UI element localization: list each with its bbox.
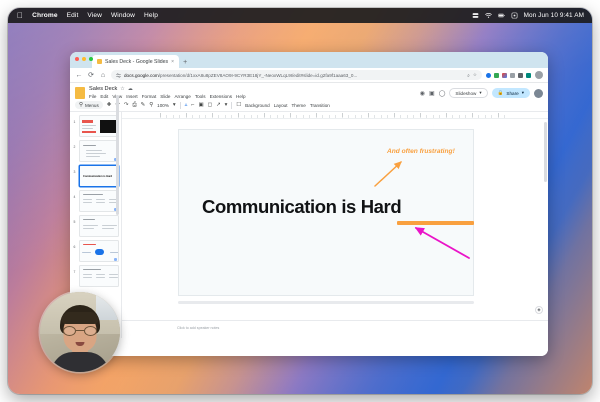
slides-logo-icon xyxy=(75,87,85,99)
presenter-glasses xyxy=(63,326,97,336)
slide-number: 1 xyxy=(72,115,77,124)
slide-thumbnail-3[interactable]: Communication is Hard xyxy=(79,165,119,187)
menubar-item-chrome[interactable]: Chrome xyxy=(32,12,58,19)
menubar-item-help[interactable]: Help xyxy=(144,12,158,19)
filmstrip-item[interactable]: 5 xyxy=(72,215,119,237)
glasses-bridge xyxy=(76,330,84,331)
new-tab-button[interactable]: + xyxy=(183,59,187,66)
window-traffic-lights[interactable] xyxy=(75,57,93,61)
browser-tab-sales-deck[interactable]: Sales Deck - Google Slides × xyxy=(92,55,179,68)
macos-menubar[interactable]:  Chrome Edit View Window Help xyxy=(8,8,592,23)
toolbar-divider xyxy=(180,102,181,109)
extension-dark-icon[interactable] xyxy=(518,73,523,78)
minimize-window-button[interactable] xyxy=(82,57,86,61)
textbox-icon[interactable]: ⌐ xyxy=(191,102,194,108)
document-title[interactable]: Sales Deck xyxy=(89,86,117,92)
back-button[interactable]: ← xyxy=(75,72,83,79)
url-path: /presentation/d/1xxA8u8pZEV8AO9I-9CYR3E1… xyxy=(159,73,358,78)
slides-toolbar[interactable]: ⚲ Menus ✚ ↶ ↷ ⎙ ✎ ⚲ 100% ▾ ▵ ⌐ ▣ ◻ ↗ ▾ ☐ xyxy=(70,99,548,112)
zoom-icon[interactable]: ⚲ xyxy=(149,102,153,108)
menu-extensions[interactable]: Extensions xyxy=(210,94,232,99)
shape-icon[interactable]: ◻ xyxy=(208,102,212,108)
slide-thumbnail-2[interactable] xyxy=(79,140,119,162)
speaker-notes-placeholder[interactable]: Click to add speaker notes xyxy=(177,326,219,330)
presenter-fringe xyxy=(62,312,99,324)
filmstrip-item[interactable]: 7 xyxy=(72,265,119,287)
theme-button[interactable]: Theme xyxy=(292,103,306,108)
background-button[interactable]: Background xyxy=(245,103,270,108)
slideshow-button[interactable]: Slideshow ▾ xyxy=(449,88,487,98)
paint-format-icon[interactable]: ✎ xyxy=(141,102,146,108)
transition-button[interactable]: Transition xyxy=(310,103,330,108)
tab-title: Sales Deck - Google Slides xyxy=(105,59,168,65)
chevron-down-icon[interactable]: ▾ xyxy=(479,90,481,96)
control-center-icon[interactable] xyxy=(472,12,479,19)
wifi-icon[interactable] xyxy=(485,12,492,19)
slides-body: 1 2 xyxy=(70,112,548,338)
menubar-item-edit[interactable]: Edit xyxy=(67,12,79,19)
menu-help[interactable]: Help xyxy=(236,94,245,99)
canvas-horizontal-scrollbar[interactable] xyxy=(178,301,474,304)
glasses-right-lens xyxy=(84,326,97,336)
star-icon[interactable]: ☆ xyxy=(120,86,124,92)
chevron-down-icon[interactable]: ▾ xyxy=(225,102,228,108)
menubar-clock[interactable]: Mon Jun 10 9:41 AM xyxy=(524,12,584,19)
menubar-item-view[interactable]: View xyxy=(87,12,102,19)
bookmark-star-icon[interactable]: ☆ xyxy=(473,72,477,78)
close-window-button[interactable] xyxy=(75,57,79,61)
home-button[interactable]: ⌂ xyxy=(99,72,107,79)
omnibox-row[interactable]: ← ⟳ ⌂ docs.google.com/presentation/d/1xx… xyxy=(70,68,548,83)
account-avatar[interactable] xyxy=(534,89,543,98)
slide-thumbnail-5[interactable] xyxy=(79,215,119,237)
menu-insert[interactable]: Insert xyxy=(126,94,138,99)
orange-arrow xyxy=(375,162,401,186)
filmstrip-item[interactable]: 1 xyxy=(72,115,119,137)
siri-icon[interactable] xyxy=(511,12,518,19)
menu-edit[interactable]: Edit xyxy=(100,94,108,99)
extension-blue-icon[interactable] xyxy=(486,73,491,78)
move-icon[interactable]: ✚ xyxy=(107,102,112,108)
toolbar-divider xyxy=(231,102,232,109)
slide-number: 2 xyxy=(72,140,77,149)
presenter-camera-bubble[interactable] xyxy=(40,292,120,372)
desktop:  Chrome Edit View Window Help xyxy=(8,8,592,394)
url-domain: docs.google.com xyxy=(124,73,159,78)
chevron-down-icon[interactable]: ▾ xyxy=(522,90,524,96)
slide-number: 3 xyxy=(72,165,77,174)
print-icon[interactable]: ⎙ xyxy=(132,102,136,109)
zoom-icon[interactable]: ⌕ xyxy=(467,73,470,78)
slide-thumbnail-6[interactable] xyxy=(79,240,119,262)
menu-file[interactable]: File xyxy=(89,94,96,99)
thumbnail-title: Communication is Hard xyxy=(83,175,112,178)
menubar-item-window[interactable]: Window xyxy=(111,12,135,19)
menu-slide[interactable]: Slide xyxy=(160,94,170,99)
line-icon[interactable]: ↗ xyxy=(216,102,221,108)
canvas-vertical-scrollbar[interactable] xyxy=(544,122,547,182)
meet-icon[interactable]: ◉ xyxy=(420,90,425,97)
search-icon: ⚲ xyxy=(79,102,83,108)
comment-icon[interactable]: ☐ xyxy=(236,102,241,108)
close-icon[interactable]: × xyxy=(171,59,174,65)
camera-background-screen xyxy=(96,294,118,320)
extension-teal-icon[interactable] xyxy=(526,73,531,78)
zoom-value[interactable]: 100% xyxy=(157,103,169,108)
slide-number: 7 xyxy=(72,265,77,274)
slide-number: 5 xyxy=(72,215,77,224)
reload-button[interactable]: ⟳ xyxy=(87,71,95,79)
menu-tools[interactable]: Tools xyxy=(195,94,206,99)
menus-search-chip[interactable]: ⚲ Menus xyxy=(75,101,103,109)
extensions-tray[interactable] xyxy=(486,73,531,78)
slide-thumbnail-1[interactable] xyxy=(79,115,119,137)
slide-thumbnail-7[interactable] xyxy=(79,265,119,287)
slide-canvas-area[interactable]: Communication is Hard And often frustrat… xyxy=(122,112,548,338)
layout-button[interactable]: Layout xyxy=(274,103,288,108)
address-bar-url: docs.google.com/presentation/d/1xxA8u8pZ… xyxy=(124,73,464,78)
chrome-window[interactable]: Sales Deck - Google Slides × + ← ⟳ ⌂ doc… xyxy=(70,52,548,356)
tune-icon[interactable] xyxy=(116,73,121,78)
select-icon[interactable]: ▵ xyxy=(185,102,188,108)
annotation-arrows xyxy=(179,130,475,297)
share-button[interactable]: 🔒 Share ▾ xyxy=(492,88,530,98)
apple-menu-icon[interactable]:  xyxy=(17,12,23,20)
present-icon[interactable]: ▣ xyxy=(429,90,435,97)
extension-green-icon[interactable] xyxy=(494,73,499,78)
address-bar[interactable]: docs.google.com/presentation/d/1xxA8u8pZ… xyxy=(111,70,482,80)
profile-avatar[interactable] xyxy=(535,71,543,79)
extension-multicolor-icon[interactable] xyxy=(502,73,507,78)
maximize-window-button[interactable] xyxy=(89,57,93,61)
slide-number: 4 xyxy=(72,190,77,199)
filmstrip-item-selected[interactable]: 3 Communication is Hard xyxy=(72,165,119,187)
slide-editing-surface[interactable]: Communication is Hard And often frustrat… xyxy=(178,129,474,296)
lock-icon: 🔒 xyxy=(498,90,504,96)
tab-strip[interactable]: Sales Deck - Google Slides × + xyxy=(70,52,548,68)
slides-favicon xyxy=(97,59,102,64)
chevron-down-icon[interactable]: ▾ xyxy=(173,102,176,108)
extension-gray-icon[interactable] xyxy=(510,73,515,78)
comment-history-icon[interactable]: ◯ xyxy=(439,90,446,97)
filmstrip-item[interactable]: 6 xyxy=(72,240,119,262)
magenta-pointer-arrow xyxy=(416,228,469,258)
redo-icon[interactable]: ↷ xyxy=(124,102,129,108)
ruler-major-ticks xyxy=(160,113,508,117)
slides-header: Sales Deck ☆ ☁ File Edit View Insert For… xyxy=(70,83,548,99)
slide-number: 6 xyxy=(72,240,77,249)
menus-search-label: Menus xyxy=(85,103,99,108)
slide-thumbnail-4[interactable] xyxy=(79,190,119,212)
google-slides-app: Sales Deck ☆ ☁ File Edit View Insert For… xyxy=(70,83,548,356)
horizontal-ruler xyxy=(122,112,548,119)
menu-arrange[interactable]: Arrange xyxy=(174,94,190,99)
explore-button[interactable]: ◈ xyxy=(535,306,543,314)
move-to-folder-icon[interactable]: ☁ xyxy=(128,86,133,92)
speaker-notes-bar[interactable]: Click to add speaker notes xyxy=(122,320,548,338)
share-label: Share xyxy=(506,91,518,96)
image-icon[interactable]: ▣ xyxy=(199,102,204,108)
menu-format[interactable]: Format xyxy=(142,94,157,99)
glasses-left-lens xyxy=(63,326,76,336)
slideshow-label: Slideshow xyxy=(455,91,476,96)
slides-menubar[interactable]: File Edit View Insert Format Slide Arran… xyxy=(89,94,420,99)
filmstrip-item[interactable]: 4 xyxy=(72,190,119,212)
filmstrip-item[interactable]: 2 xyxy=(72,140,119,162)
battery-icon[interactable] xyxy=(498,12,505,19)
filmstrip-scrollbar[interactable] xyxy=(116,112,119,215)
